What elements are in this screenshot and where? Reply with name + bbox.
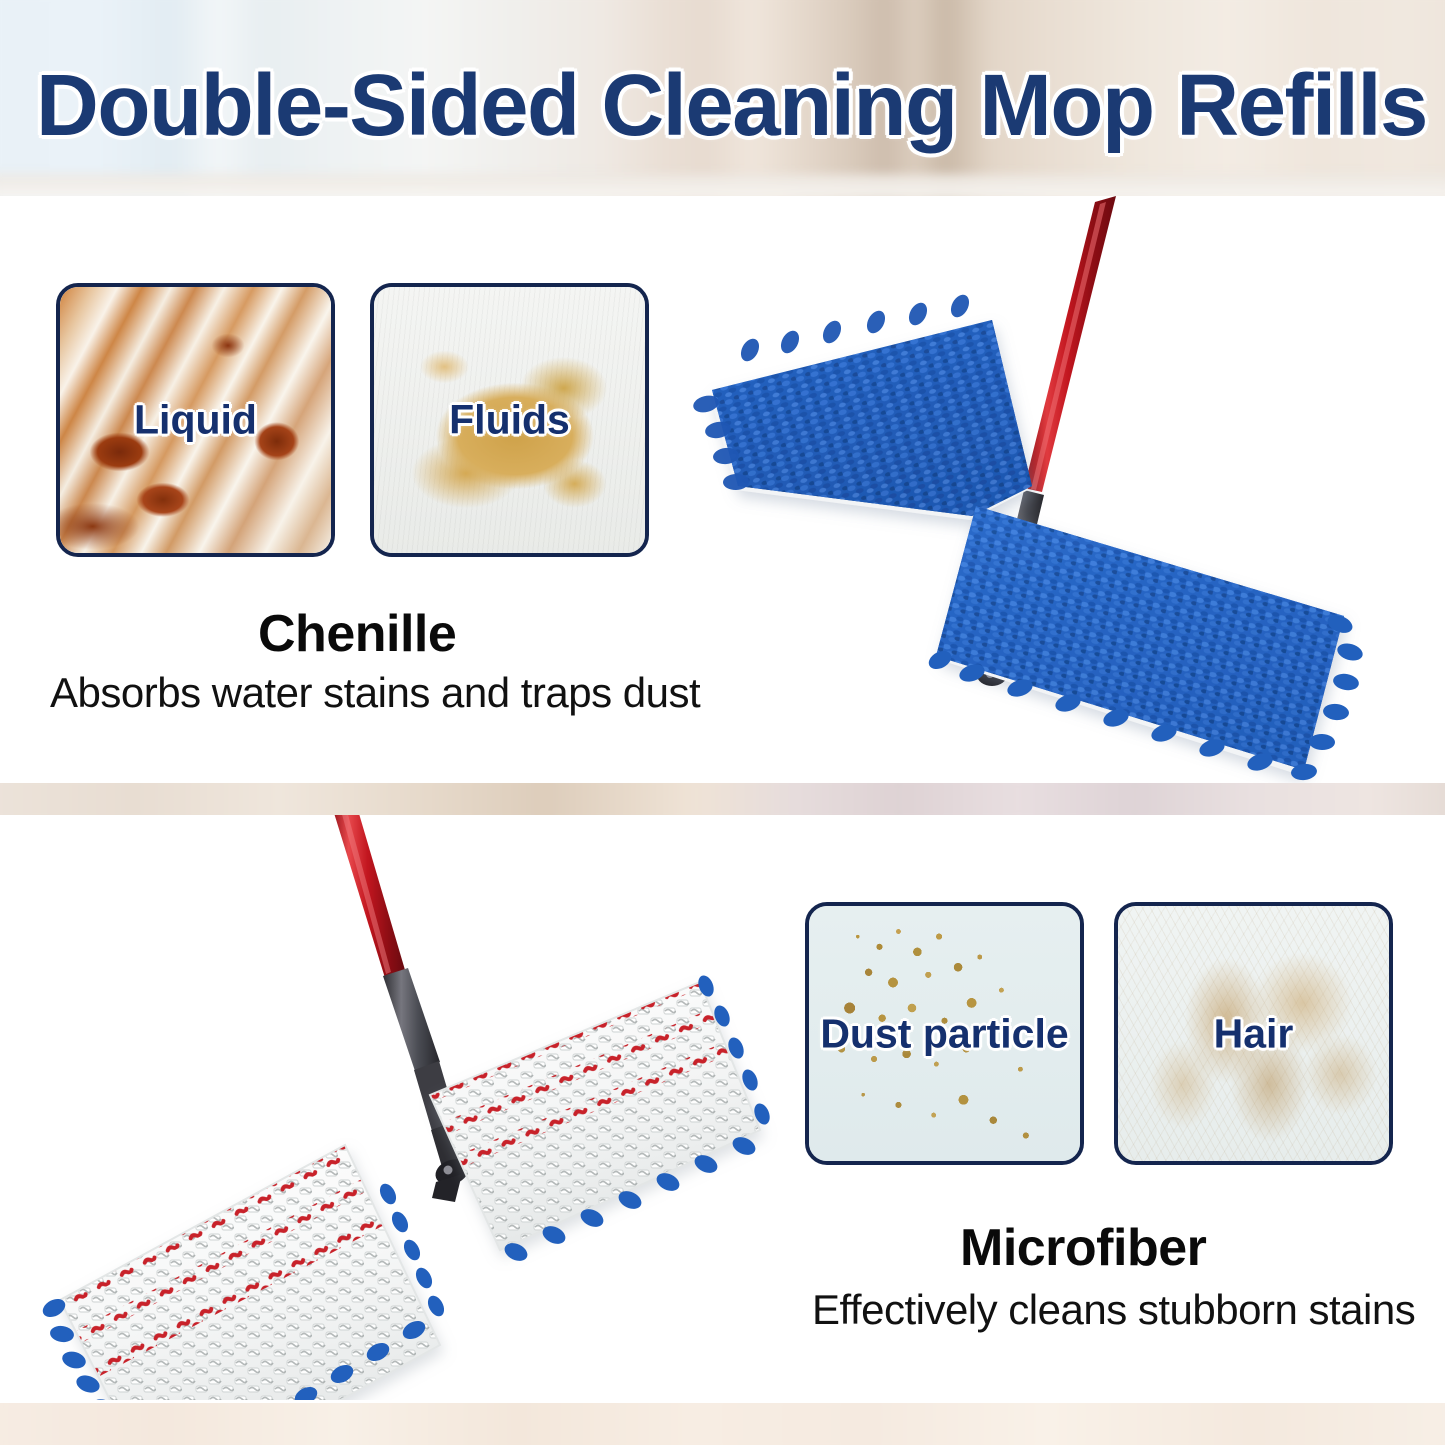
sample-card-label: Fluids — [374, 397, 645, 444]
mop-pad-lower — [0, 1077, 470, 1400]
blue-chenille-mop-photo — [640, 196, 1445, 783]
infographic-page: Double-Sided Cleaning Mop Refills Liquid… — [0, 0, 1445, 1445]
section-microfiber: Dust particle Hair Microfiber Effectivel… — [0, 815, 1445, 1403]
banner-shelf-highlight — [0, 174, 1445, 196]
sample-card-label: Liquid — [60, 397, 331, 444]
footer-strip — [0, 1403, 1445, 1445]
footer-blur — [0, 1403, 1445, 1445]
section-chenille: Liquid Fluids Chenille Absorbs water sta… — [0, 196, 1445, 783]
mop-pole — [1024, 196, 1116, 492]
feature-subtitle-chenille: Absorbs water stains and traps dust — [50, 669, 700, 717]
page-title: Double-Sided Cleaning Mop Refills — [36, 62, 1427, 149]
feature-title-microfiber: Microfiber — [960, 1218, 1206, 1278]
sample-card-dust-particle: Dust particle — [805, 902, 1084, 1165]
sample-card-label: Hair — [1118, 1010, 1389, 1057]
header-banner: Double-Sided Cleaning Mop Refills — [0, 0, 1445, 196]
sample-card-fluids: Fluids — [370, 283, 649, 557]
sample-card-liquid: Liquid — [56, 283, 335, 557]
white-microfiber-mop-photo — [0, 815, 790, 1400]
feature-title-chenille: Chenille — [258, 604, 456, 664]
mop-pad-lower — [936, 506, 1344, 775]
mop-pole — [330, 815, 405, 978]
sample-card-label: Dust particle — [809, 1010, 1080, 1057]
mop-pad-upper — [351, 919, 790, 1280]
divider-blur — [0, 783, 1445, 815]
section-divider-strip — [0, 783, 1445, 815]
sample-card-hair: Hair — [1114, 902, 1393, 1165]
feature-subtitle-microfiber: Effectively cleans stubborn stains — [812, 1286, 1415, 1334]
